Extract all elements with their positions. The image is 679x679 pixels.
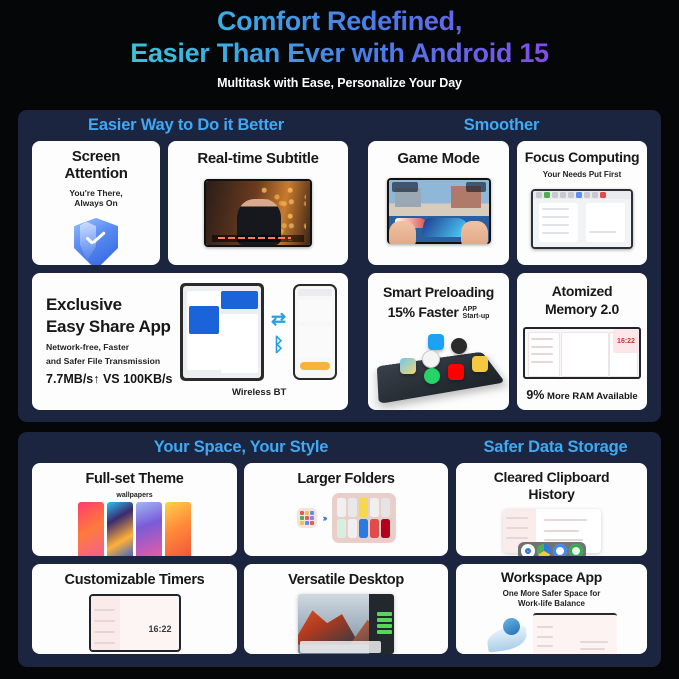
large-folder-icon bbox=[332, 493, 396, 543]
workspace-art bbox=[487, 613, 617, 654]
card-title-larger-folders: Larger Folders bbox=[297, 471, 394, 487]
panel-top: Easier Way to Do it Better Smoother Scre… bbox=[18, 110, 661, 422]
section-heading-easier: Easier Way to Do it Better bbox=[26, 116, 346, 135]
card-title-atomized-memory-2: Memory 2.0 bbox=[545, 302, 619, 318]
card-sub-easy-share-2: and Safer File Transmission bbox=[46, 356, 172, 367]
card-realtime-subtitle[interactable]: Real-time Subtitle bbox=[168, 141, 348, 265]
card-title-easy-share-2: Easy Share App bbox=[46, 317, 172, 336]
easy-share-transfer-art: ⇄ ᛒ bbox=[180, 283, 337, 381]
clipboard-window-art bbox=[503, 509, 601, 553]
atomized-memory-ui-art: 16:22 bbox=[523, 327, 641, 379]
preloading-tablet-art bbox=[376, 334, 501, 400]
card-sub-workspace-app-1: One More Safer Space for bbox=[503, 589, 601, 599]
app-dock bbox=[518, 542, 586, 556]
section-heading-storage: Safer Data Storage bbox=[458, 438, 653, 457]
bird-mascot-icon bbox=[487, 616, 527, 654]
card-title-screen-attention: Screen Attention bbox=[42, 149, 150, 183]
card-versatile-desktop[interactable]: Versatile Desktop bbox=[244, 564, 448, 654]
bluetooth-icon: ᛒ bbox=[273, 336, 284, 355]
game-tablet-art bbox=[387, 178, 491, 244]
wallpaper-thumb[interactable] bbox=[165, 502, 191, 556]
card-stat-smart-preloading: 15% Faster bbox=[388, 305, 459, 321]
card-title-cleared-clipboard-1: Cleared Clipboard bbox=[494, 470, 609, 486]
page-header: Comfort Redefined, Easier Than Ever with… bbox=[0, 0, 679, 90]
card-sub-focus-computing: Your Needs Put First bbox=[543, 170, 622, 180]
wallpaper-thumbnails bbox=[77, 502, 193, 556]
card-title-cleared-clipboard-2: History bbox=[528, 487, 574, 503]
wallpaper-thumb[interactable] bbox=[78, 502, 104, 556]
card-sub-screen-attention-2: Always On bbox=[74, 198, 117, 209]
phone-device bbox=[293, 284, 337, 380]
card-caption-easy-share: Wireless BT bbox=[232, 387, 286, 398]
card-note-smart-preloading-1: APP bbox=[463, 306, 490, 313]
small-folder-icon bbox=[297, 508, 317, 528]
desktop-art bbox=[298, 594, 394, 654]
card-title-full-set-theme: Full-set Theme bbox=[85, 471, 183, 487]
card-title-focus-computing: Focus Computing bbox=[525, 150, 640, 166]
card-caption-atomized-rest: More RAM Available bbox=[544, 391, 637, 402]
page-subtitle: Multitask with Ease, Personalize Your Da… bbox=[0, 76, 679, 90]
card-focus-computing[interactable]: Focus Computing Your Needs Put First bbox=[517, 141, 647, 265]
section-heading-style: Your Space, Your Style bbox=[26, 438, 456, 457]
tablet-device bbox=[180, 283, 264, 381]
workspace-window bbox=[533, 613, 617, 654]
chevron-right-icon: ››› bbox=[323, 513, 326, 523]
section-heading-smoother: Smoother bbox=[350, 116, 653, 135]
card-note-smart-preloading-2: Start-up bbox=[463, 313, 490, 320]
card-game-mode[interactable]: Game Mode bbox=[368, 141, 509, 265]
drive-icon bbox=[537, 544, 551, 556]
folder-expansion-art: ››› bbox=[297, 493, 396, 543]
card-easy-share[interactable]: Exclusive Easy Share App Network-free, F… bbox=[32, 273, 348, 410]
page-title-line-1: Comfort Redefined, bbox=[0, 6, 679, 38]
focus-computing-ui-art bbox=[531, 189, 633, 249]
infographic-page: Comfort Redefined, Easier Than Ever with… bbox=[0, 0, 679, 679]
wallpaper-thumb[interactable] bbox=[107, 502, 133, 556]
card-title-smart-preloading: Smart Preloading bbox=[383, 285, 494, 301]
page-title-line-2: Easier Than Ever with Android 15 bbox=[0, 38, 679, 70]
subtitle-video-art bbox=[204, 179, 312, 247]
shield-check-icon bbox=[74, 218, 118, 265]
card-title-atomized-memory-1: Atomized bbox=[552, 284, 613, 300]
card-title-workspace-app: Workspace App bbox=[501, 570, 602, 586]
panel-bottom: Your Space, Your Style Safer Data Storag… bbox=[18, 432, 661, 667]
timer-clock: 16:22 bbox=[148, 624, 171, 634]
wallpaper-thumb[interactable] bbox=[136, 502, 162, 556]
card-title-realtime-subtitle: Real-time Subtitle bbox=[197, 151, 318, 168]
timer-window-art: 16:22 bbox=[89, 594, 181, 652]
card-larger-folders[interactable]: Larger Folders ››› bbox=[244, 463, 448, 556]
card-atomized-memory[interactable]: Atomized Memory 2.0 16:22 9% More RAM Av… bbox=[517, 273, 647, 410]
card-title-game-mode: Game Mode bbox=[397, 151, 479, 168]
card-sub-easy-share-1: Network-free, Faster bbox=[46, 342, 172, 353]
card-cleared-clipboard[interactable]: Cleared Clipboard History bbox=[456, 463, 647, 556]
card-stat-easy-share: 7.7MB/s↑ VS 100KB/s bbox=[46, 372, 172, 386]
card-title-versatile-desktop: Versatile Desktop bbox=[288, 572, 404, 588]
photos-icon bbox=[569, 544, 583, 556]
card-screen-attention[interactable]: Screen Attention You're There, Always On bbox=[32, 141, 160, 265]
card-title-customizable-timers: Customizable Timers bbox=[65, 572, 205, 588]
card-title-easy-share-1: Exclusive bbox=[46, 295, 172, 314]
card-smart-preloading[interactable]: Smart Preloading 15% Faster APP Start-up bbox=[368, 273, 509, 410]
clock-badge: 16:22 bbox=[613, 329, 639, 353]
card-workspace-app[interactable]: Workspace App One More Safer Space for W… bbox=[456, 564, 647, 654]
chrome-icon bbox=[521, 544, 535, 556]
card-customizable-timers[interactable]: Customizable Timers 16:22 bbox=[32, 564, 237, 654]
card-caption-atomized-strong: 9% bbox=[526, 388, 544, 402]
card-label-wallpapers: wallpapers bbox=[116, 492, 152, 499]
transfer-arrows-icon: ⇄ bbox=[271, 310, 286, 328]
card-sub-workspace-app-2: Work-life Balance bbox=[518, 599, 585, 609]
google-icon bbox=[553, 544, 567, 556]
card-sub-screen-attention-1: You're There, bbox=[69, 188, 122, 199]
card-full-set-theme[interactable]: Full-set Theme wallpapers bbox=[32, 463, 237, 556]
